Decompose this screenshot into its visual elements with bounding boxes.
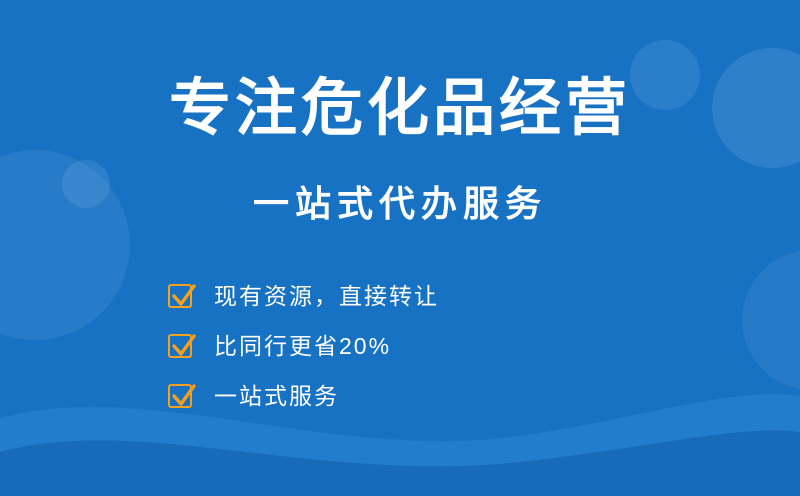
subheadline: 一站式代办服务	[0, 186, 800, 222]
feature-label: 比同行更省20%	[214, 335, 391, 358]
feature-label: 一站式服务	[214, 385, 339, 408]
list-item: 现有资源，直接转让	[168, 272, 588, 320]
check-icon	[168, 384, 192, 408]
feature-list: 现有资源，直接转让 比同行更省20% 一站式服务	[168, 272, 588, 422]
list-item: 一站式服务	[168, 372, 588, 420]
list-item: 比同行更省20%	[168, 322, 588, 370]
headline: 专注危化品经营	[0, 78, 800, 140]
check-icon	[168, 334, 192, 358]
feature-label: 现有资源，直接转让	[214, 285, 439, 308]
promo-banner: 专注危化品经营 一站式代办服务 现有资源，直接转让 比同行更省20%	[0, 0, 800, 496]
banner-content: 专注危化品经营 一站式代办服务 现有资源，直接转让 比同行更省20%	[0, 0, 800, 496]
check-icon	[168, 284, 192, 308]
